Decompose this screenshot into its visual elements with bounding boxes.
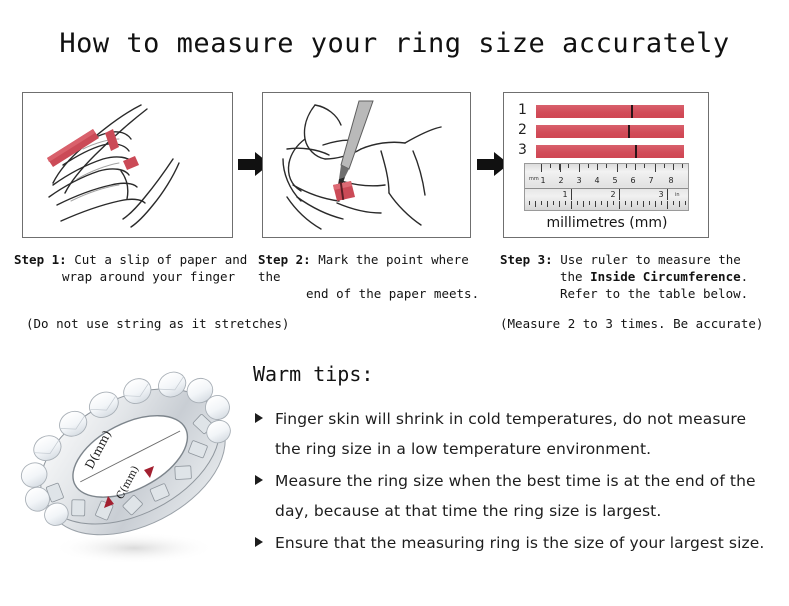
step-1-note: (Do not use string as it stretches) — [26, 316, 289, 331]
ruler-units-label: millimetres (mm) — [504, 215, 709, 231]
paper-strip-shape — [47, 129, 139, 170]
step-2-line2: end of the paper meets. — [258, 285, 496, 302]
triangle-bullet-icon — [255, 475, 263, 485]
arrow-shaft — [238, 159, 256, 170]
ruler-inch-unit: in — [675, 192, 680, 198]
page-title: How to measure your ring size accurately — [0, 28, 789, 59]
ruler-metric-tick-label: 2 — [558, 176, 563, 185]
pen-shape — [338, 101, 373, 185]
step-2-illustration-panel — [262, 92, 471, 238]
step-1-label: Step 1: — [14, 252, 67, 267]
strip-number: 1 — [518, 102, 532, 118]
measured-strip-row: 2 — [518, 125, 698, 139]
ruler-metric-tick-label: 6 — [630, 176, 635, 185]
step-3-label: Step 3: — [500, 252, 553, 267]
step-3-line2-suffix: . — [741, 269, 749, 284]
inside-circumference-emphasis: Inside Circumference — [590, 269, 741, 284]
ring-diagram: D(mm) C(mm) — [18, 352, 246, 576]
paper-strip-shape — [333, 181, 355, 201]
warm-tip-item: Measure the ring size when the best time… — [253, 466, 773, 526]
step-3-line2: the Inside Circumference. — [500, 268, 772, 285]
ruler-metric-tick-label: 1 — [540, 176, 545, 185]
triangle-bullet-icon — [255, 537, 263, 547]
warm-tips-section: Warm tips: Finger skin will shrink in co… — [253, 362, 773, 560]
ruler-graphic: mm 1 2 3 4 5 6 7 8 — [524, 163, 689, 211]
ruler-metric-tick-label: 7 — [648, 176, 653, 185]
paper-strip-bar — [536, 125, 684, 138]
hand-marking-paper-drawing — [263, 93, 471, 238]
measured-strip-row: 3 — [518, 145, 698, 159]
warm-tip-text: Measure the ring size when the best time… — [275, 472, 756, 520]
ruler-metric-tick-label: 5 — [612, 176, 617, 185]
step-2-caption: Step 2: Mark the point where the end of … — [258, 251, 496, 302]
ruler-inch-tick-label: 3 — [658, 190, 663, 199]
step-3-note: (Measure 2 to 3 times. Be accurate) — [500, 316, 763, 331]
ruler-inch-tick-label: 1 — [562, 190, 567, 199]
paper-strip-bar — [536, 105, 684, 118]
ruler-metric-unit: mm — [529, 176, 539, 182]
ruler-metric-scale: mm 1 2 3 4 5 6 7 8 — [525, 164, 688, 189]
step-3-illustration-panel: 1 2 3 mm — [503, 92, 709, 238]
step-1-line2: wrap around your finger — [14, 268, 254, 285]
warm-tip-text: Finger skin will shrink in cold temperat… — [275, 410, 746, 458]
ruler-metric-tick-label: 4 — [594, 176, 599, 185]
strip-mark-tick — [635, 145, 637, 158]
arrow-shaft — [477, 159, 495, 170]
strip-number: 2 — [518, 122, 532, 138]
warm-tip-text: Ensure that the measuring ring is the si… — [275, 534, 764, 552]
ruler-inch-scale: in 1 2 3 — [525, 189, 688, 211]
hand-with-paper-strip-drawing — [23, 93, 233, 238]
step-3-line1: Use ruler to measure the — [560, 252, 741, 267]
ruler-metric-tick-label: 8 — [668, 176, 673, 185]
warm-tip-item: Ensure that the measuring ring is the si… — [253, 528, 773, 558]
measured-strip-row: 1 — [518, 105, 698, 119]
ring-illustration: D(mm) C(mm) — [18, 352, 246, 576]
ruler-metric-tick-label: 3 — [576, 176, 581, 185]
step-3-caption: Step 3: Use ruler to measure the the Ins… — [500, 251, 772, 302]
strip-number: 3 — [518, 142, 532, 158]
strip-mark-tick — [631, 105, 633, 118]
step-1-caption: Step 1: Cut a slip of paper and wrap aro… — [14, 251, 254, 285]
step-3-line2-prefix: the — [560, 269, 590, 284]
step-2-label: Step 2: — [258, 252, 311, 267]
step-1-illustration-panel — [22, 92, 233, 238]
paper-strip-bar — [536, 145, 684, 158]
strip-mark-tick — [628, 125, 630, 138]
step-1-line1: Cut a slip of paper and — [74, 252, 247, 267]
ruler-inch-tick-label: 2 — [610, 190, 615, 199]
warm-tip-item: Finger skin will shrink in cold temperat… — [253, 404, 773, 464]
triangle-bullet-icon — [255, 413, 263, 423]
warm-tips-heading: Warm tips: — [253, 362, 773, 386]
step-3-line3: Refer to the table below. — [500, 285, 772, 302]
